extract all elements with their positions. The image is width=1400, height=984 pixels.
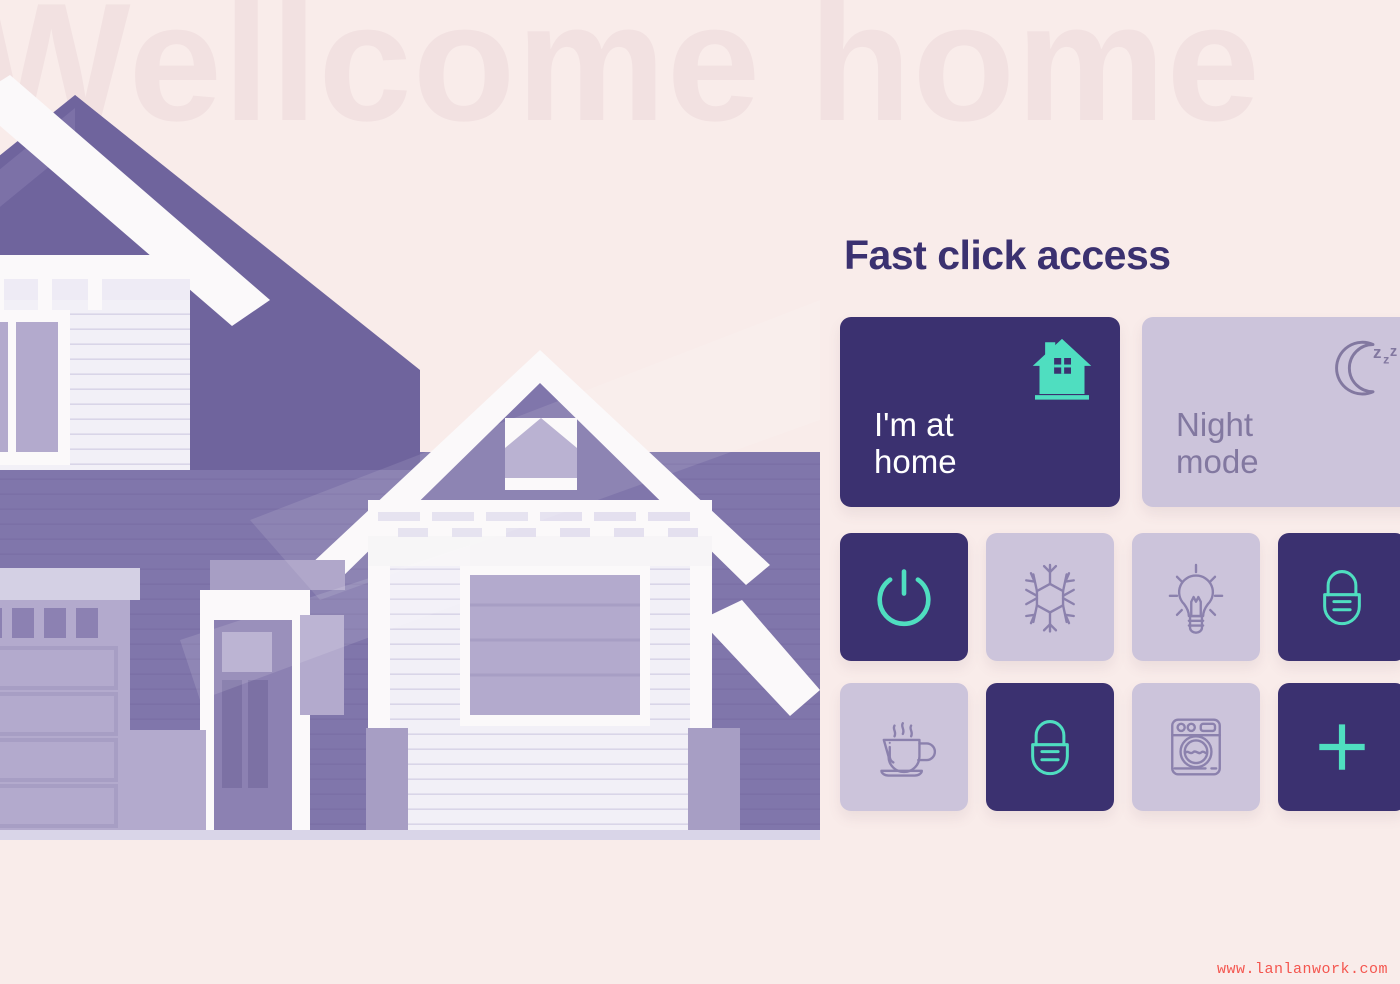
app-screen: Wellcome home <box>0 0 1400 984</box>
tile-lighting[interactable] <box>1132 533 1260 661</box>
moon-zzz-icon: z z z <box>1328 331 1400 403</box>
eave-bracket-3 <box>88 272 102 310</box>
mode-card-im-at-home[interactable]: I'm at home <box>840 317 1120 507</box>
coffee-cup-icon <box>866 709 942 785</box>
washing-machine-icon <box>1158 709 1234 785</box>
mode-card-row: I'm at home z z z Night mode <box>840 317 1400 507</box>
front-pier-left <box>366 728 408 835</box>
power-icon <box>867 560 941 634</box>
tile-laundry[interactable] <box>1132 683 1260 811</box>
svg-text:z: z <box>1390 344 1397 360</box>
mode-card-label: I'm at home <box>874 407 957 481</box>
lock-icon <box>1013 710 1087 784</box>
snowflake-icon <box>1012 559 1088 635</box>
site-watermark: www.lanlanwork.com <box>1217 961 1388 978</box>
lightbulb-icon <box>1158 559 1234 635</box>
eave-bracket-1 <box>0 272 4 310</box>
plus-icon <box>1309 714 1375 780</box>
front-pier-right <box>688 728 740 835</box>
lock-icon <box>1305 560 1379 634</box>
mode-card-label: Night mode <box>1176 407 1259 481</box>
mode-card-night-mode[interactable]: z z z Night mode <box>1142 317 1400 507</box>
quick-action-grid <box>840 533 1400 811</box>
tile-coffee[interactable] <box>840 683 968 811</box>
tile-lock-1[interactable] <box>1278 533 1400 661</box>
upper-window-mullion-v <box>8 322 16 452</box>
svg-text:z: z <box>1373 343 1381 362</box>
svg-text:z: z <box>1383 353 1389 367</box>
garage-header <box>0 568 140 600</box>
garage-door-windows <box>0 608 98 638</box>
tile-lock-2[interactable] <box>986 683 1114 811</box>
eave-bracket-2 <box>38 272 52 310</box>
foundation-line <box>0 830 820 840</box>
page-title: Fast click access <box>844 232 1400 279</box>
tile-add[interactable] <box>1278 683 1400 811</box>
tile-power[interactable] <box>840 533 968 661</box>
fast-access-panel: Fast click access I'm at home z <box>840 232 1400 811</box>
front-door-panel-1 <box>222 680 242 788</box>
garage-side-wall <box>128 730 206 835</box>
house-illustration <box>0 0 820 860</box>
front-window-glass <box>470 575 640 715</box>
tile-air-conditioning[interactable] <box>986 533 1114 661</box>
front-door-panel-2 <box>248 680 268 788</box>
house-icon <box>1026 331 1098 403</box>
